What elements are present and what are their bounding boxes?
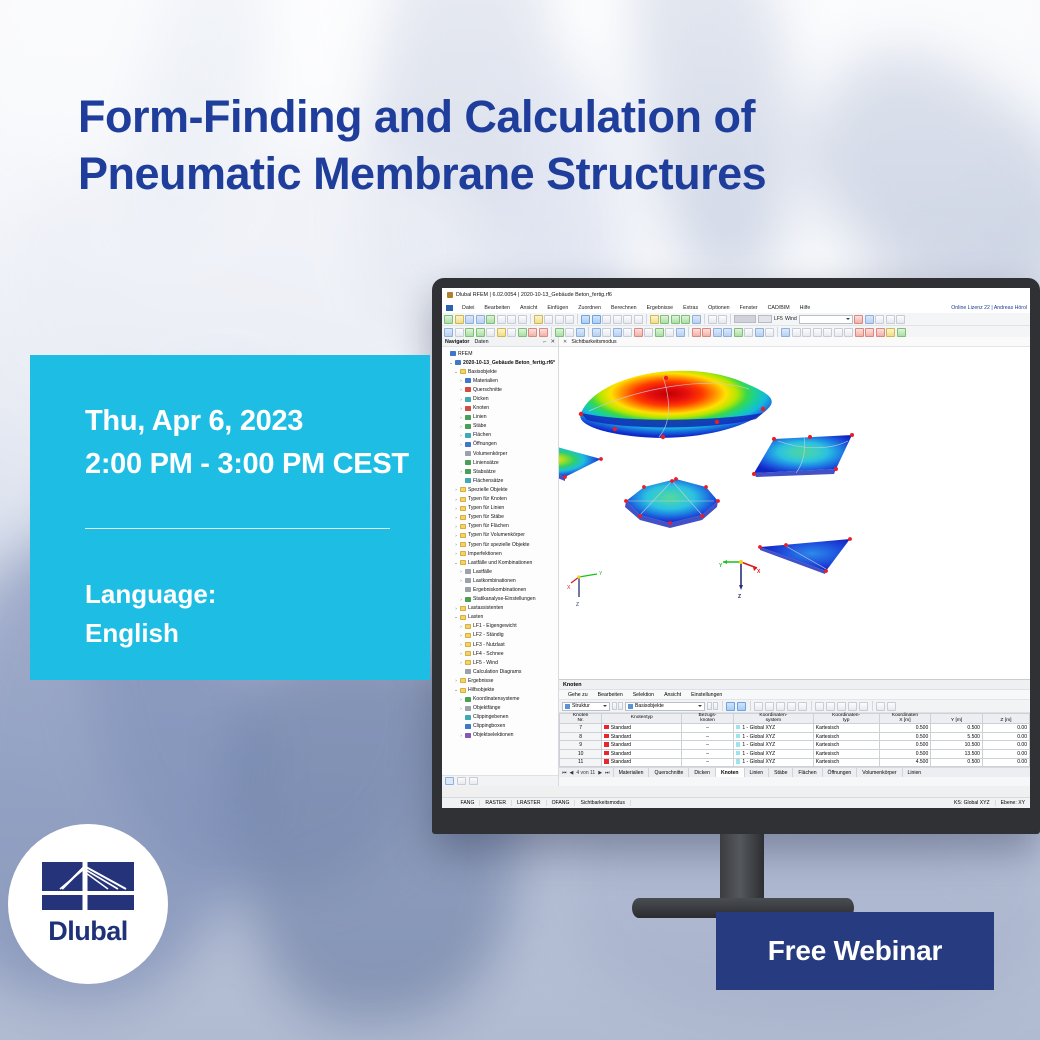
table-grid2-icon[interactable] bbox=[765, 702, 774, 711]
navigator-item[interactable]: ›Linien bbox=[444, 413, 558, 422]
hinge-tool-icon[interactable] bbox=[576, 328, 585, 337]
viewport-close-icon[interactable]: ✕ bbox=[563, 339, 567, 345]
tree-node-icon bbox=[465, 715, 471, 720]
table-tabs: ⏮◀4 von 11▶⏭ Materialien Querschnitte Di… bbox=[559, 767, 1030, 777]
cell-ref-node[interactable]: – bbox=[682, 732, 734, 741]
opening-tool-icon[interactable] bbox=[528, 328, 537, 337]
undo-icon[interactable] bbox=[555, 315, 564, 324]
navigator-visibility-icon[interactable] bbox=[457, 777, 466, 785]
navigator-item-label: Typen für Volumenkörper bbox=[468, 532, 525, 538]
navigator-results-icon[interactable] bbox=[469, 777, 478, 785]
navigator-item[interactable]: ›Querschnitte bbox=[444, 385, 558, 394]
tab-oeffnungen[interactable]: Öffnungen bbox=[822, 768, 857, 778]
structure-combo[interactable]: Struktur bbox=[562, 702, 610, 711]
menu-item-bearbeiten[interactable]: Bearbeiten bbox=[479, 305, 515, 311]
load-node-icon[interactable] bbox=[592, 328, 601, 337]
table-row[interactable]: 7Standard–1 - Global XYZKartesisch0.5000… bbox=[560, 724, 1030, 733]
navigator-item[interactable]: ›Lastkombinationen bbox=[444, 576, 558, 585]
cell-x[interactable]: 0.500 bbox=[879, 741, 931, 750]
navigator-item[interactable]: ⌄Basisobjekte bbox=[444, 367, 558, 376]
open-folder-icon[interactable] bbox=[455, 315, 464, 324]
navigator-item[interactable]: Calculation Diagrams bbox=[444, 667, 558, 676]
cell-x[interactable]: 0.500 bbox=[879, 749, 931, 758]
load-icon[interactable] bbox=[886, 315, 895, 324]
save-icon[interactable] bbox=[497, 315, 506, 324]
tab-querschnitte[interactable]: Querschnitte bbox=[648, 768, 688, 778]
tab-flaechen[interactable]: Flächen bbox=[792, 768, 821, 778]
cell-y[interactable]: 0.500 bbox=[931, 758, 983, 767]
col-x: KoordinatenX [m] bbox=[879, 714, 931, 724]
cell-z[interactable]: 0.00 bbox=[982, 749, 1029, 758]
mirror-icon[interactable] bbox=[755, 328, 764, 337]
statusbar: x FANG RASTER LRASTER OFANG Sichtbarkeit… bbox=[442, 797, 1030, 808]
page-title-line-2: Pneumatic Membrane Structures bbox=[78, 145, 898, 202]
cell-y[interactable]: 5.500 bbox=[931, 732, 983, 741]
free-webinar-button[interactable]: Free Webinar bbox=[716, 912, 994, 990]
chevron-right-icon[interactable]: › bbox=[459, 706, 463, 711]
table-menu-ansicht[interactable]: Ansicht bbox=[659, 692, 686, 698]
cell-y[interactable]: 10.500 bbox=[931, 741, 983, 750]
cell-x[interactable]: 4.500 bbox=[879, 758, 931, 767]
chevron-right-icon[interactable]: › bbox=[459, 697, 463, 702]
load-free-icon[interactable] bbox=[655, 328, 664, 337]
support-icon[interactable] bbox=[875, 315, 884, 324]
navigator-item[interactable]: ›Stäbe bbox=[444, 422, 558, 431]
tab-staebe[interactable]: Stäbe bbox=[768, 768, 792, 778]
chevron-right-icon[interactable]: › bbox=[454, 487, 458, 492]
corner-axis-triad: Y X Z bbox=[567, 569, 611, 611]
set-tool-icon[interactable] bbox=[539, 328, 548, 337]
cell-coord-type[interactable]: Kartesisch bbox=[813, 758, 879, 767]
chevron-right-icon[interactable]: › bbox=[459, 378, 463, 383]
render-mode-icon[interactable] bbox=[708, 315, 717, 324]
cell-ref-node[interactable]: – bbox=[682, 741, 734, 750]
tree-node-icon bbox=[465, 469, 471, 474]
grid-icon[interactable] bbox=[897, 328, 906, 337]
print-dropdown-icon[interactable] bbox=[518, 315, 527, 324]
chevron-right-icon[interactable]: › bbox=[459, 442, 463, 447]
chevron-right-icon[interactable]: › bbox=[459, 660, 463, 665]
solid-tool-icon[interactable] bbox=[518, 328, 527, 337]
navigator-item[interactable]: Liniensätze bbox=[444, 458, 558, 467]
table-delete-row-icon[interactable] bbox=[837, 702, 846, 711]
chevron-right-icon[interactable]: › bbox=[459, 469, 463, 474]
member-tool-icon[interactable] bbox=[476, 328, 485, 337]
chevron-down-icon[interactable]: ⌄ bbox=[454, 687, 458, 693]
navigator-header: Navigator Daten ⌐ ✕ bbox=[442, 337, 558, 347]
col-coord-type: Koordinaten-typ bbox=[813, 714, 879, 724]
navigator-panel: Navigator Daten ⌐ ✕ RFEM⌄2020-10-13_Gebä… bbox=[442, 337, 559, 786]
chevron-right-icon[interactable]: › bbox=[459, 424, 463, 429]
navigator-item[interactable]: Volumenkörper bbox=[444, 449, 558, 458]
chevron-right-icon[interactable]: › bbox=[454, 515, 458, 520]
load-case-dropdown[interactable] bbox=[799, 315, 853, 324]
navigator-item-label: Stäbe bbox=[473, 423, 486, 429]
navigator-item[interactable]: ⌄Lasten bbox=[444, 613, 558, 622]
chevron-right-icon[interactable]: › bbox=[459, 624, 463, 629]
tree-node-icon bbox=[465, 733, 471, 738]
structure-spinner[interactable] bbox=[612, 702, 623, 710]
navigator-item[interactable]: ›Materialien bbox=[444, 376, 558, 385]
view-single-icon[interactable] bbox=[581, 315, 590, 324]
navigator-item[interactable]: RFEM bbox=[444, 349, 558, 358]
navigator-item[interactable]: ›LF1 - Eigengewicht bbox=[444, 622, 558, 631]
cell-ref-node[interactable]: – bbox=[682, 758, 734, 767]
cell-z[interactable]: 0.00 bbox=[982, 724, 1029, 733]
chevron-right-icon[interactable]: › bbox=[459, 415, 463, 420]
navigator-item[interactable]: ⌄Hilfsobjekte bbox=[444, 685, 558, 694]
zoom-icon[interactable] bbox=[660, 315, 669, 324]
table-grid5-icon[interactable] bbox=[798, 702, 807, 711]
navigator-item[interactable]: ›Typen für spezielle Objekte bbox=[444, 540, 558, 549]
zoom-all-icon[interactable] bbox=[681, 315, 690, 324]
navigator-item[interactable]: ›LF4 - Schnee bbox=[444, 649, 558, 658]
navigator-item[interactable]: ›Typen für Flächen bbox=[444, 522, 558, 531]
svg-text:Y: Y bbox=[719, 563, 723, 569]
navigator-item[interactable]: ›Typen für Stäbe bbox=[444, 513, 558, 522]
menu-item-ansicht[interactable]: Ansicht bbox=[515, 305, 542, 311]
navigator-item[interactable]: ›Statikanalyse-Einstellungen bbox=[444, 595, 558, 604]
tree-node-icon bbox=[465, 669, 471, 674]
chevron-right-icon[interactable]: › bbox=[459, 406, 463, 411]
pager-label: 4 von 11 bbox=[576, 770, 595, 776]
navigator-item[interactable]: ›Typen für Knoten bbox=[444, 495, 558, 504]
navigator-item[interactable]: ›Lastassistenten bbox=[444, 604, 558, 613]
menu-item-fenster[interactable]: Fenster bbox=[735, 305, 763, 311]
tree-node-icon bbox=[465, 569, 471, 574]
navigator-item-label: Objektfänge bbox=[473, 705, 500, 711]
refresh-icon[interactable] bbox=[865, 315, 874, 324]
table-settings-icon[interactable] bbox=[876, 702, 885, 711]
status-sichtbarkeitsmodus[interactable]: Sichtbarkeitsmodus bbox=[575, 800, 630, 806]
chevron-right-icon[interactable]: › bbox=[454, 606, 458, 611]
chevron-down-icon[interactable]: ⌄ bbox=[454, 560, 458, 566]
cell-coord-type[interactable]: Kartesisch bbox=[813, 724, 879, 733]
navigator-item[interactable]: ›Imperfektionen bbox=[444, 549, 558, 558]
menu-item-einfuegen[interactable]: Einfügen bbox=[542, 305, 573, 311]
chevron-right-icon[interactable]: › bbox=[459, 633, 463, 638]
chevron-right-icon[interactable]: › bbox=[454, 542, 458, 547]
daten-tab[interactable]: Daten bbox=[474, 339, 488, 345]
tab-dicken[interactable]: Dicken bbox=[688, 768, 715, 778]
navigator-item[interactable]: ›Typen für Volumenkörper bbox=[444, 531, 558, 540]
load-line-dropdown-icon[interactable] bbox=[623, 328, 632, 337]
surface-tool-icon[interactable] bbox=[497, 328, 506, 337]
navigator-item-label: LF1 - Eigengewicht bbox=[473, 623, 517, 629]
cell-ref-node[interactable]: – bbox=[682, 724, 734, 733]
cell-z[interactable]: 0.00 bbox=[982, 741, 1029, 750]
offset-icon[interactable] bbox=[834, 328, 843, 337]
cell-z[interactable]: 0.00 bbox=[982, 732, 1029, 741]
load-case-chip bbox=[734, 315, 756, 323]
load-free-dropdown-icon[interactable] bbox=[665, 328, 674, 337]
deform-icon[interactable] bbox=[896, 315, 905, 324]
navigator-tree[interactable]: RFEM⌄2020-10-13_Gebäude Beton_fertig.rf6… bbox=[442, 347, 558, 775]
chevron-right-icon[interactable]: › bbox=[459, 733, 463, 738]
cell-coord-type[interactable]: Kartesisch bbox=[813, 741, 879, 750]
table-move-up-icon[interactable] bbox=[848, 702, 857, 711]
col-ref-node: Bezugs-knoten bbox=[682, 714, 734, 724]
export-icon[interactable] bbox=[486, 315, 495, 324]
navigator-item[interactable]: ⌄Lastfälle und Kombinationen bbox=[444, 558, 558, 567]
cell-node-type[interactable]: Standard bbox=[602, 758, 682, 767]
filter-icon[interactable] bbox=[781, 328, 790, 337]
display-mode-icon[interactable] bbox=[718, 315, 727, 324]
navigator-item[interactable]: ›Stabsätze bbox=[444, 467, 558, 476]
table-body[interactable]: 7Standard–1 - Global XYZKartesisch0.5000… bbox=[560, 724, 1030, 767]
chevron-right-icon[interactable]: › bbox=[454, 678, 458, 683]
table-menu-gehe-zu[interactable]: Gehe zu bbox=[563, 692, 593, 698]
menu-item-datei[interactable]: Datei bbox=[457, 305, 479, 311]
dim3-icon[interactable] bbox=[713, 328, 722, 337]
table-row[interactable]: 9Standard–1 - Global XYZKartesisch0.5001… bbox=[560, 741, 1030, 750]
cell-ref-node[interactable]: – bbox=[682, 749, 734, 758]
cell-coord-system[interactable]: 1 - Global XYZ bbox=[733, 732, 813, 741]
pin-icon[interactable]: ⌐ bbox=[543, 339, 546, 345]
redo-icon[interactable] bbox=[565, 315, 574, 324]
chevron-right-icon[interactable]: › bbox=[454, 524, 458, 529]
col-node-type: Knotentyp bbox=[602, 714, 682, 724]
navigator-item[interactable]: ›Spezielle Objekte bbox=[444, 485, 558, 494]
chevron-right-icon[interactable]: › bbox=[459, 433, 463, 438]
navigator-item-label: Typen für Linien bbox=[468, 505, 504, 511]
member-dropdown-icon[interactable] bbox=[486, 328, 495, 337]
table-zoom-icon[interactable] bbox=[726, 702, 735, 711]
status-fang[interactable]: FANG bbox=[456, 800, 481, 806]
cell-coord-system[interactable]: 1 - Global XYZ bbox=[733, 758, 813, 767]
table-row[interactable]: 10Standard–1 - Global XYZKartesisch0.500… bbox=[560, 749, 1030, 758]
view-wire-icon[interactable] bbox=[623, 315, 632, 324]
cell-x[interactable]: 0.500 bbox=[879, 724, 931, 733]
view-solid-icon[interactable] bbox=[634, 315, 643, 324]
tree-node-icon bbox=[465, 724, 471, 729]
navigator-item[interactable]: ⌄2020-10-13_Gebäude Beton_fertig.rf6* bbox=[444, 358, 558, 367]
table-grid4-icon[interactable] bbox=[787, 702, 796, 711]
page-title-line-1: Form-Finding and Calculation of bbox=[78, 88, 898, 145]
view-table-icon[interactable] bbox=[602, 315, 611, 324]
load-surface-dropdown-icon[interactable] bbox=[644, 328, 653, 337]
navigator-item[interactable]: ›Flächen bbox=[444, 431, 558, 440]
cell-node-nr[interactable]: 10 bbox=[560, 749, 602, 758]
node-tool-icon[interactable] bbox=[444, 328, 453, 337]
copy-object-icon[interactable] bbox=[734, 328, 743, 337]
new-model-icon[interactable] bbox=[444, 315, 453, 324]
cloud-icon[interactable] bbox=[465, 315, 474, 324]
surface-edit-icon[interactable] bbox=[886, 328, 895, 337]
chevron-right-icon[interactable]: › bbox=[454, 551, 458, 556]
chevron-right-icon[interactable]: › bbox=[459, 387, 463, 392]
view-split-icon[interactable] bbox=[592, 315, 601, 324]
navigator-item[interactable]: ›Objektselektionen bbox=[444, 731, 558, 740]
table-grid3-icon[interactable] bbox=[776, 702, 785, 711]
cell-coord-type[interactable]: Kartesisch bbox=[813, 732, 879, 741]
navigator-item[interactable]: ›Objektfänge bbox=[444, 704, 558, 713]
load-line-icon[interactable] bbox=[613, 328, 622, 337]
cell-coord-system[interactable]: 1 - Global XYZ bbox=[733, 724, 813, 733]
cell-node-nr[interactable]: 9 bbox=[560, 741, 602, 750]
support-tool-icon[interactable] bbox=[555, 328, 564, 337]
menu-item-cad-bim[interactable]: CAD/BIM bbox=[763, 305, 795, 311]
cell-node-type[interactable]: Standard bbox=[602, 749, 682, 758]
chevron-right-icon[interactable]: › bbox=[459, 642, 463, 647]
chevron-right-icon[interactable]: › bbox=[454, 506, 458, 511]
cell-z[interactable]: 0.00 bbox=[982, 758, 1029, 767]
cell-y[interactable]: 0.500 bbox=[931, 724, 983, 733]
window-titlebar: Dlubal RFEM | 6.02.0054 | 2020-10-13_Geb… bbox=[442, 288, 1030, 302]
nodes-table[interactable]: KnotenNr. Knotentyp Bezugs-knoten Koordi… bbox=[559, 713, 1030, 767]
split-icon[interactable] bbox=[813, 328, 822, 337]
zoom-window-icon[interactable] bbox=[671, 315, 680, 324]
dim4-icon[interactable] bbox=[723, 328, 732, 337]
chevron-right-icon[interactable]: › bbox=[454, 533, 458, 538]
svg-text:X: X bbox=[757, 569, 761, 575]
surface-dropdown-icon[interactable] bbox=[507, 328, 516, 337]
model-viewport[interactable]: Y X Z bbox=[559, 347, 1030, 679]
menu-item-extras[interactable]: Extras bbox=[678, 305, 703, 311]
navigator-tab[interactable]: Navigator bbox=[445, 339, 469, 345]
structure-icon bbox=[565, 704, 570, 709]
menu-item-ergebnisse[interactable]: Ergebnisse bbox=[642, 305, 679, 311]
chevron-down-icon[interactable]: ⌄ bbox=[454, 614, 458, 620]
table-insert-row-icon[interactable] bbox=[826, 702, 835, 711]
tab-volumenkoerper[interactable]: Volumenkörper bbox=[856, 768, 901, 778]
connect-icon[interactable] bbox=[855, 328, 864, 337]
table-select-icon[interactable] bbox=[737, 702, 746, 711]
mirror-dropdown-icon[interactable] bbox=[765, 328, 774, 337]
viewport-tab-label[interactable]: Sichtbarkeitsmodus bbox=[571, 339, 616, 345]
navigator-item[interactable]: ›LF3 - Nutzlast bbox=[444, 640, 558, 649]
membrane-structure-left bbox=[559, 443, 607, 483]
cell-node-type[interactable]: Standard bbox=[602, 724, 682, 733]
chevron-right-icon[interactable]: › bbox=[459, 578, 463, 583]
divide-icon[interactable] bbox=[865, 328, 874, 337]
tab-linien[interactable]: Linien bbox=[744, 768, 769, 778]
navigator-item[interactable]: ›LF2 - Ständig bbox=[444, 631, 558, 640]
pan-icon[interactable] bbox=[692, 315, 701, 324]
align-icon[interactable] bbox=[844, 328, 853, 337]
navigator-item[interactable]: Flächensätze bbox=[444, 476, 558, 485]
menu-item-zuordnen[interactable]: Zuordnen bbox=[573, 305, 606, 311]
copy-object-dropdown-icon[interactable] bbox=[744, 328, 753, 337]
status-lraster[interactable]: LRASTER bbox=[512, 800, 547, 806]
cell-node-nr[interactable]: 11 bbox=[560, 758, 602, 767]
col-y: Y [m] bbox=[931, 714, 983, 724]
table-cut-icon[interactable] bbox=[815, 702, 824, 711]
tab-materialien[interactable]: Materialien bbox=[613, 768, 649, 778]
navigator-item[interactable]: Clippingboxen bbox=[444, 722, 558, 731]
results-icon[interactable] bbox=[854, 315, 863, 324]
tree-node-icon bbox=[465, 633, 471, 638]
cell-y[interactable]: 13.500 bbox=[931, 749, 983, 758]
table-row[interactable]: 8Standard–1 - Global XYZKartesisch0.5005… bbox=[560, 732, 1030, 741]
chevron-down-icon[interactable]: ⌄ bbox=[454, 369, 458, 375]
table-menu-selektion[interactable]: Selektion bbox=[628, 692, 659, 698]
tree-node-icon bbox=[460, 678, 466, 683]
cell-node-nr[interactable]: 7 bbox=[560, 724, 602, 733]
close-icon[interactable]: ✕ bbox=[551, 339, 555, 345]
extrude-icon[interactable] bbox=[802, 328, 811, 337]
dim-icon[interactable] bbox=[692, 328, 701, 337]
chevron-right-icon[interactable]: › bbox=[459, 597, 463, 602]
table-menu-einstellungen[interactable]: Einstellungen bbox=[686, 692, 727, 698]
table-move-down-icon[interactable] bbox=[859, 702, 868, 711]
view-render-icon[interactable] bbox=[613, 315, 622, 324]
cell-node-type[interactable]: Standard bbox=[602, 741, 682, 750]
import-icon[interactable] bbox=[476, 315, 485, 324]
navigator-item[interactable]: Ergebniskombinationen bbox=[444, 585, 558, 594]
tree-node-icon bbox=[465, 406, 471, 411]
objects-spinner[interactable] bbox=[707, 702, 718, 710]
app-body: Navigator Daten ⌐ ✕ RFEM⌄2020-10-13_Gebä… bbox=[442, 337, 1030, 786]
navigator-item[interactable]: ›Dicken bbox=[444, 394, 558, 403]
chevron-right-icon[interactable]: › bbox=[459, 651, 463, 656]
tree-node-icon bbox=[460, 615, 466, 620]
imperfection-icon[interactable] bbox=[676, 328, 685, 337]
chevron-right-icon[interactable]: › bbox=[459, 397, 463, 402]
navigator-item[interactable]: ›Koordinatensysteme bbox=[444, 695, 558, 704]
table-export-icon[interactable] bbox=[887, 702, 896, 711]
table-grid1-icon[interactable] bbox=[754, 702, 763, 711]
status-ofang[interactable]: OFANG bbox=[547, 800, 576, 806]
language-value: English bbox=[85, 614, 430, 653]
tab-linien-2[interactable]: Linien bbox=[902, 768, 927, 778]
intersect-icon[interactable] bbox=[792, 328, 801, 337]
table-header-row: KnotenNr. Knotentyp Bezugs-knoten Koordi… bbox=[560, 714, 1030, 724]
objects-combo[interactable]: Basisobjekte bbox=[625, 702, 705, 711]
cell-coord-system[interactable]: 1 - Global XYZ bbox=[733, 741, 813, 750]
navigator-item[interactable]: ›LF5 - Wind bbox=[444, 658, 558, 667]
load-case-number: LF5 bbox=[774, 316, 783, 322]
cell-x[interactable]: 0.500 bbox=[879, 732, 931, 741]
status-raster[interactable]: RASTER bbox=[480, 800, 512, 806]
load-surface-icon[interactable] bbox=[634, 328, 643, 337]
load-case-selector[interactable]: LF5 Wind bbox=[734, 315, 853, 324]
line-tool-icon[interactable] bbox=[465, 328, 474, 337]
chevron-down-icon[interactable]: ⌄ bbox=[449, 360, 453, 366]
navigator-item[interactable]: Clippingebenen bbox=[444, 713, 558, 722]
cell-node-nr[interactable]: 8 bbox=[560, 732, 602, 741]
cell-coord-type[interactable]: Kartesisch bbox=[813, 749, 879, 758]
navigator-item[interactable]: ›Ergebnisse bbox=[444, 676, 558, 685]
menu-item-hilfe[interactable]: Hilfe bbox=[795, 305, 816, 311]
chevron-right-icon[interactable]: › bbox=[454, 497, 458, 502]
navigator-view-icon[interactable] bbox=[445, 777, 454, 785]
trim-icon[interactable] bbox=[823, 328, 832, 337]
cell-coord-system[interactable]: 1 - Global XYZ bbox=[733, 749, 813, 758]
merge-icon[interactable] bbox=[876, 328, 885, 337]
support-dropdown-icon[interactable] bbox=[565, 328, 574, 337]
table-row[interactable]: 11Standard–1 - Global XYZKartesisch4.500… bbox=[560, 758, 1030, 767]
chevron-right-icon[interactable]: › bbox=[459, 569, 463, 574]
dim2-icon[interactable] bbox=[702, 328, 711, 337]
cell-node-type[interactable]: Standard bbox=[602, 732, 682, 741]
navigator-item[interactable]: ›Lastfälle bbox=[444, 567, 558, 576]
load-node-dropdown-icon[interactable] bbox=[602, 328, 611, 337]
menu-item-optionen[interactable]: Optionen bbox=[703, 305, 735, 311]
tab-knoten[interactable]: Knoten bbox=[715, 768, 744, 778]
table-menu-bearbeiten[interactable]: Bearbeiten bbox=[593, 692, 628, 698]
copy-icon[interactable] bbox=[534, 315, 543, 324]
node-dropdown-icon[interactable] bbox=[455, 328, 464, 337]
print-icon[interactable] bbox=[507, 315, 516, 324]
menu-item-berechnen[interactable]: Berechnen bbox=[606, 305, 642, 311]
navigator-item[interactable]: ›Knoten bbox=[444, 404, 558, 413]
navigator-item[interactable]: ›Öffnungen bbox=[444, 440, 558, 449]
navigator-item[interactable]: ›Typen für Linien bbox=[444, 504, 558, 513]
paste-icon[interactable] bbox=[544, 315, 553, 324]
measure-icon[interactable] bbox=[650, 315, 659, 324]
table-pager[interactable]: ⏮◀4 von 11▶⏭ bbox=[559, 770, 613, 776]
